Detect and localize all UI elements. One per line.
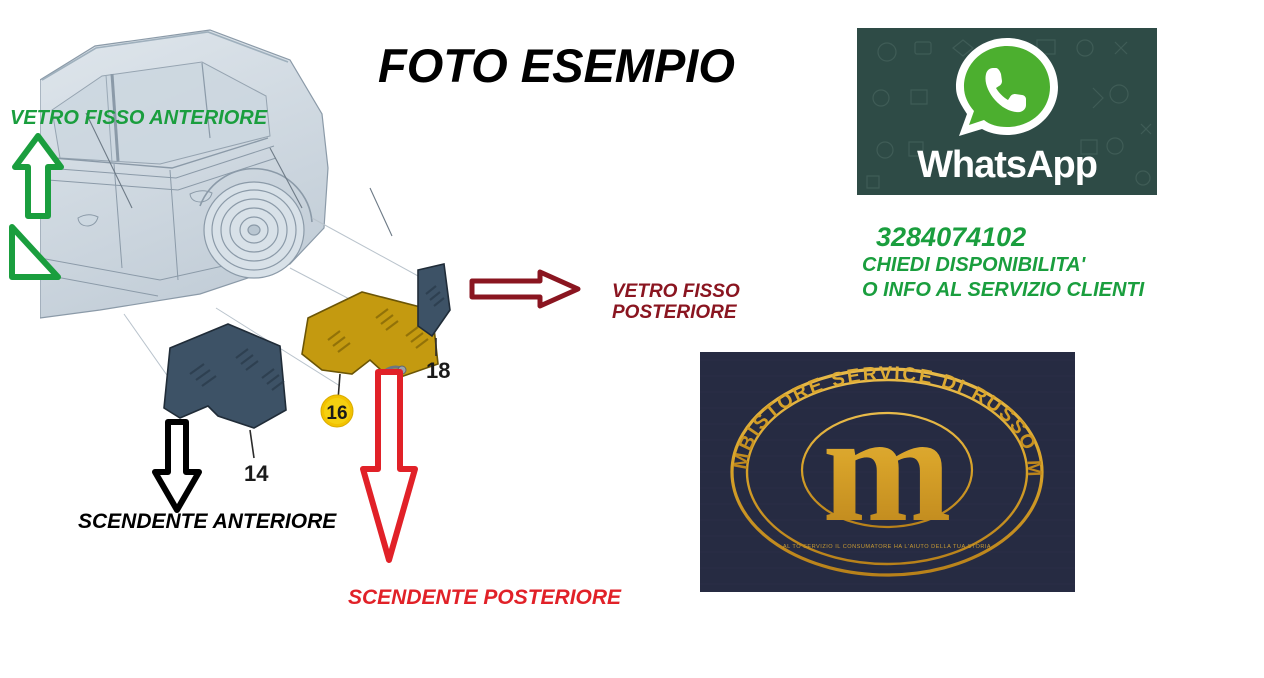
phone-number[interactable]: 3284074102 (876, 222, 1144, 253)
dark-red-right-arrow-icon (468, 268, 582, 315)
screenshot-root: FOTO ESEMPIO (0, 0, 1264, 678)
whatsapp-banner[interactable]: WhatsApp (857, 28, 1157, 195)
label-vetro-fisso-anteriore: VETRO FISSO ANTERIORE (10, 107, 267, 129)
store-logo-banner: MRICAMBISTORE SERVICE DI RUSSO MARCO m A… (700, 352, 1075, 592)
label-vetro-fisso-posteriore: VETRO FISSO POSTERIORE (612, 281, 740, 324)
car-diagram-svg: 14 16 17 18 (40, 18, 540, 488)
label-vetro-fisso-posteriore-line1: VETRO FISSO (612, 281, 740, 302)
green-up-arrow-icon (12, 133, 64, 224)
label-scendente-posteriore: SCENDENTE POSTERIORE (348, 586, 621, 610)
svg-text:16: 16 (326, 403, 347, 424)
contact-info-block: 3284074102 CHIEDI DISPONIBILITA' O INFO … (862, 222, 1144, 303)
part-number-14: 14 (244, 461, 269, 486)
store-logo-svg: MRICAMBISTORE SERVICE DI RUSSO MARCO m A… (700, 352, 1075, 592)
part-number-16-badge: 16 (321, 395, 353, 427)
logo-tagline: AL TO SERVIZIO IL CONSUMATORE HA L'AIUTO… (783, 544, 991, 550)
contact-line-1: CHIEDI DISPONIBILITA' (862, 253, 1144, 278)
logo-monogram: m (822, 382, 951, 554)
red-down-arrow-icon (358, 368, 420, 569)
whatsapp-logo-icon (947, 34, 1067, 144)
car-parts-diagram: 14 16 17 18 (40, 18, 540, 488)
contact-line-2: O INFO AL SERVIZIO CLIENTI (862, 278, 1144, 303)
label-scendente-anteriore: SCENDENTE ANTERIORE (78, 510, 336, 534)
black-down-arrow-icon (150, 418, 204, 518)
whatsapp-wordmark: WhatsApp (857, 144, 1157, 187)
part-number-18: 18 (426, 358, 450, 383)
green-triangle-icon (5, 222, 65, 289)
label-vetro-fisso-posteriore-line2: POSTERIORE (612, 302, 740, 323)
